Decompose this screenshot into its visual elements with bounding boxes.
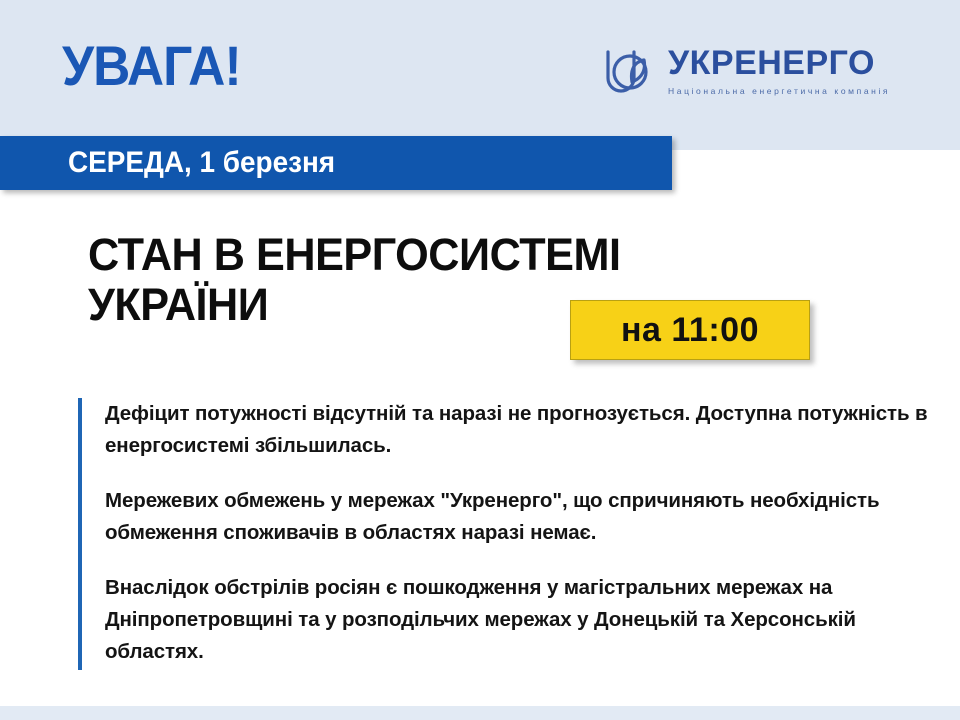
body-paragraph: Дефіцит потужності відсутній та наразі н…: [105, 398, 948, 463]
accent-bar: [78, 398, 82, 670]
logo-text-group: УКРЕНЕРГО Національна енергетична компан…: [668, 44, 890, 96]
paragraph-list: Дефіцит потужності відсутній та наразі н…: [105, 398, 948, 669]
time-badge: на 11:00: [570, 300, 810, 360]
page-title: УВАГА!: [62, 38, 241, 94]
logo-tagline: Національна енергетична компанія: [668, 86, 890, 96]
ukrenergo-u-leaf-logo-icon: [600, 44, 662, 100]
bottom-strip: [0, 706, 960, 720]
time-badge-label: на 11:00: [621, 311, 759, 350]
body-paragraph: Внаслідок обстрілів росіян є пошкодження…: [105, 572, 948, 669]
date-banner: СЕРЕДА, 1 березня: [0, 136, 672, 190]
logo-wordmark: УКРЕНЕРГО: [668, 44, 875, 82]
ukrenergo-logo: УКРЕНЕРГО Національна енергетична компан…: [600, 44, 890, 100]
body-section: Дефіцит потужності відсутній та наразі н…: [78, 398, 948, 669]
body-paragraph: Мережевих обмежень у мережах "Укренерго"…: [105, 485, 948, 550]
date-banner-label: СЕРЕДА, 1 березня: [68, 146, 335, 180]
